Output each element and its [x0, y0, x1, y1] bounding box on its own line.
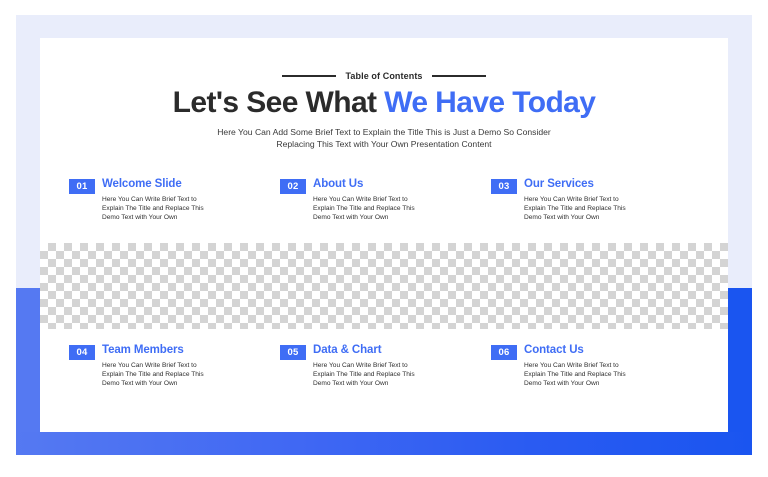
toc-item-title[interactable]: Our Services [524, 178, 702, 191]
eyebrow: Table of Contents [40, 71, 728, 81]
page-title-accent: We Have Today [384, 86, 595, 119]
toc-item-04[interactable]: 04 Team Members Here You Can Write Brief… [69, 344, 280, 388]
decorative-blue-left-bar [16, 288, 41, 455]
toc-item-description: Here You Can Write Brief Text to Explain… [524, 195, 702, 222]
toc-item-body: About Us Here You Can Write Brief Text t… [313, 178, 491, 222]
toc-desc-line-1: Here You Can Write Brief Text to [102, 195, 280, 204]
toc-desc-line-3: Demo Text with Your Own [102, 213, 280, 222]
toc-desc-line-2: Explain The Title and Replace This [524, 370, 702, 379]
toc-desc-line-1: Here You Can Write Brief Text to [524, 361, 702, 370]
toc-item-02[interactable]: 02 About Us Here You Can Write Brief Tex… [280, 178, 491, 222]
page-title-dark: Let's See What [173, 86, 385, 119]
decorative-blue-right-bar [727, 288, 752, 455]
toc-desc-line-3: Demo Text with Your Own [313, 213, 491, 222]
toc-desc-line-2: Explain The Title and Replace This [313, 204, 491, 213]
toc-item-01[interactable]: 01 Welcome Slide Here You Can Write Brie… [69, 178, 280, 222]
toc-item-title[interactable]: Team Members [102, 344, 280, 357]
toc-number-badge: 03 [491, 179, 517, 194]
eyebrow-label: Table of Contents [345, 71, 422, 81]
page-subtitle: Here You Can Add Some Brief Text to Expl… [134, 126, 634, 150]
toc-desc-line-1: Here You Can Write Brief Text to [102, 361, 280, 370]
toc-row-bottom: 04 Team Members Here You Can Write Brief… [69, 344, 704, 388]
toc-item-06[interactable]: 06 Contact Us Here You Can Write Brief T… [491, 344, 702, 388]
toc-desc-line-1: Here You Can Write Brief Text to [313, 361, 491, 370]
image-placeholder[interactable] [40, 243, 728, 329]
toc-desc-line-2: Explain The Title and Replace This [313, 370, 491, 379]
page-subtitle-line-1: Here You Can Add Some Brief Text to Expl… [134, 126, 634, 138]
toc-desc-line-3: Demo Text with Your Own [524, 213, 702, 222]
toc-item-body: Contact Us Here You Can Write Brief Text… [524, 344, 702, 388]
toc-desc-line-1: Here You Can Write Brief Text to [524, 195, 702, 204]
eyebrow-rule-left [282, 75, 336, 77]
toc-item-description: Here You Can Write Brief Text to Explain… [102, 195, 280, 222]
page-subtitle-line-2: Replacing This Text with Your Own Presen… [134, 138, 634, 150]
toc-desc-line-1: Here You Can Write Brief Text to [313, 195, 491, 204]
toc-item-body: Team Members Here You Can Write Brief Te… [102, 344, 280, 388]
toc-item-03[interactable]: 03 Our Services Here You Can Write Brief… [491, 178, 702, 222]
toc-row-top: 01 Welcome Slide Here You Can Write Brie… [69, 178, 704, 222]
toc-item-title[interactable]: Welcome Slide [102, 178, 280, 191]
toc-number-badge: 05 [280, 345, 306, 360]
toc-item-description: Here You Can Write Brief Text to Explain… [524, 361, 702, 388]
toc-number-badge: 01 [69, 179, 95, 194]
page-title: Let's See What We Have Today [40, 86, 728, 120]
toc-desc-line-2: Explain The Title and Replace This [524, 204, 702, 213]
eyebrow-rule-right [432, 75, 486, 77]
toc-item-description: Here You Can Write Brief Text to Explain… [313, 361, 491, 388]
toc-item-title[interactable]: Data & Chart [313, 344, 491, 357]
toc-number-badge: 04 [69, 345, 95, 360]
toc-number-badge: 02 [280, 179, 306, 194]
toc-item-body: Welcome Slide Here You Can Write Brief T… [102, 178, 280, 222]
toc-item-description: Here You Can Write Brief Text to Explain… [313, 195, 491, 222]
toc-desc-line-2: Explain The Title and Replace This [102, 370, 280, 379]
toc-desc-line-3: Demo Text with Your Own [524, 379, 702, 388]
toc-desc-line-3: Demo Text with Your Own [313, 379, 491, 388]
slide-canvas: Table of Contents Let's See What We Have… [0, 0, 768, 477]
toc-item-title[interactable]: About Us [313, 178, 491, 191]
toc-desc-line-2: Explain The Title and Replace This [102, 204, 280, 213]
toc-item-body: Data & Chart Here You Can Write Brief Te… [313, 344, 491, 388]
toc-item-description: Here You Can Write Brief Text to Explain… [102, 361, 280, 388]
toc-number-badge: 06 [491, 345, 517, 360]
toc-item-body: Our Services Here You Can Write Brief Te… [524, 178, 702, 222]
decorative-blue-bottom-bar [16, 432, 752, 455]
toc-item-05[interactable]: 05 Data & Chart Here You Can Write Brief… [280, 344, 491, 388]
toc-desc-line-3: Demo Text with Your Own [102, 379, 280, 388]
toc-item-title[interactable]: Contact Us [524, 344, 702, 357]
slide-card: Table of Contents Let's See What We Have… [40, 38, 728, 432]
